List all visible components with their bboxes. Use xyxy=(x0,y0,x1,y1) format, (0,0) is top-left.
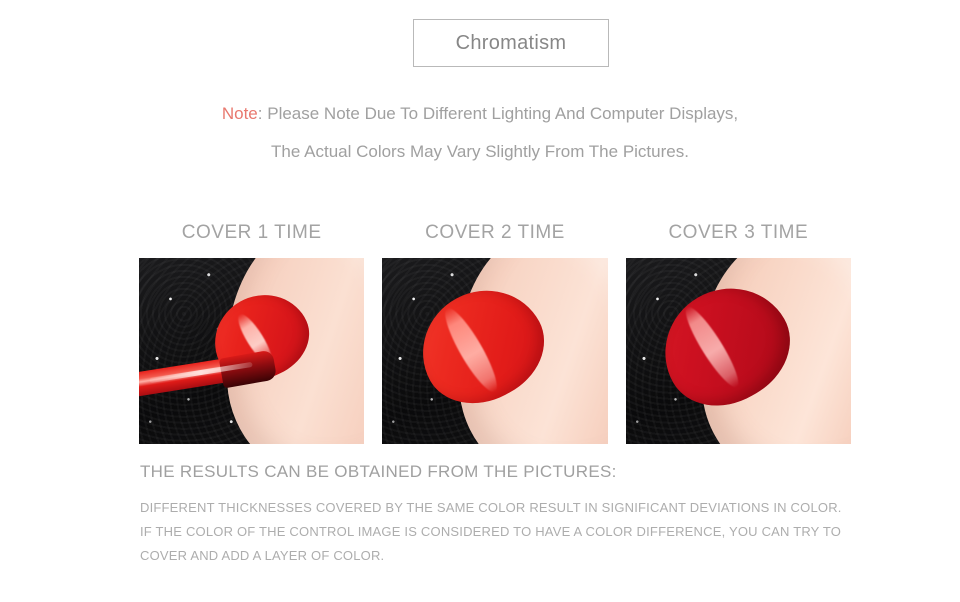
cover-header-3: COVER 3 TIME xyxy=(626,222,851,244)
note-line-2: The Actual Colors May Vary Slightly From… xyxy=(0,133,960,171)
note-block: Note: Please Note Due To Different Light… xyxy=(0,95,960,171)
cover-headers-row: COVER 1 TIME COVER 2 TIME COVER 3 TIME xyxy=(139,222,851,244)
note-text-line-1: Please Note Due To Different Lighting An… xyxy=(267,104,738,123)
page-title: Chromatism xyxy=(456,32,567,55)
page-title-box: Chromatism xyxy=(413,19,609,67)
note-label: Note xyxy=(222,104,258,123)
cover-image-2 xyxy=(382,258,607,444)
results-line-2: IF THE COLOR OF THE CONTROL IMAGE IS CON… xyxy=(140,520,900,544)
results-block: THE RESULTS CAN BE OBTAINED FROM THE PIC… xyxy=(140,462,900,568)
cover-header-1: COVER 1 TIME xyxy=(139,222,364,244)
results-line-1: DIFFERENT THICKNESSES COVERED BY THE SAM… xyxy=(140,496,900,520)
note-line-1: Note: Please Note Due To Different Light… xyxy=(0,95,960,133)
results-title: THE RESULTS CAN BE OBTAINED FROM THE PIC… xyxy=(140,462,900,482)
cover-header-2: COVER 2 TIME xyxy=(382,222,607,244)
note-colon: : xyxy=(258,104,263,123)
cover-images-row xyxy=(139,258,851,444)
cover-image-1 xyxy=(139,258,364,444)
results-line-3: COVER AND ADD A LAYER OF COLOR. xyxy=(140,544,900,568)
cover-image-3 xyxy=(626,258,851,444)
